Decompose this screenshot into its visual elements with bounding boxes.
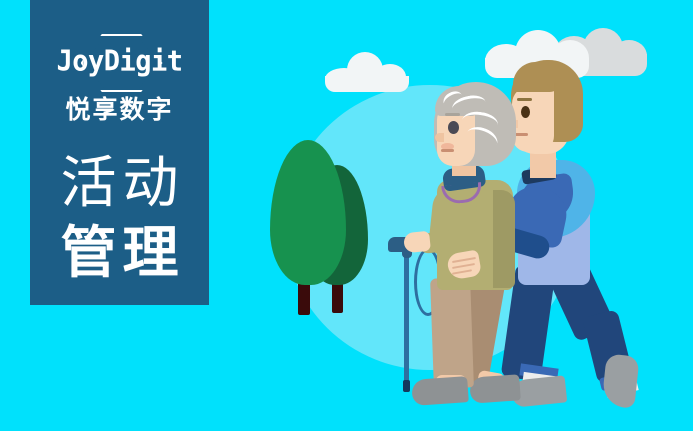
woman-eyebrow xyxy=(445,113,460,116)
man-hair-fringe xyxy=(513,62,561,92)
woman-front-leg xyxy=(430,277,474,388)
man-face xyxy=(512,86,554,152)
man-neck xyxy=(530,150,556,178)
woman-mouth xyxy=(441,149,454,152)
logo-wordmark: JoyDigit xyxy=(56,47,182,76)
man-eyebrow xyxy=(517,98,532,101)
woman-eye xyxy=(448,121,459,134)
logo-chinese-name: 悦享数字 xyxy=(65,98,173,123)
page-title-line-2: 管理 xyxy=(55,225,185,281)
cloud-left xyxy=(325,52,415,88)
cane-shaft xyxy=(404,248,409,391)
man-mouth xyxy=(514,133,528,136)
woman-cane-hand xyxy=(403,231,431,254)
woman-back-shoe xyxy=(469,374,521,403)
logo-lockup: JoyDigit xyxy=(50,33,190,89)
cane-tip xyxy=(403,380,410,392)
woman-sweater-shade xyxy=(493,190,515,288)
woman-nose xyxy=(435,133,444,142)
brand-panel: JoyDigit 悦享数字 活动 管理 xyxy=(30,0,209,305)
woman-front-shoe xyxy=(411,376,469,406)
poster-canvas: JoyDigit 悦享数字 活动 管理 xyxy=(0,0,693,431)
page-title-line-1: 活动 xyxy=(55,155,185,211)
man-eye xyxy=(521,106,530,118)
